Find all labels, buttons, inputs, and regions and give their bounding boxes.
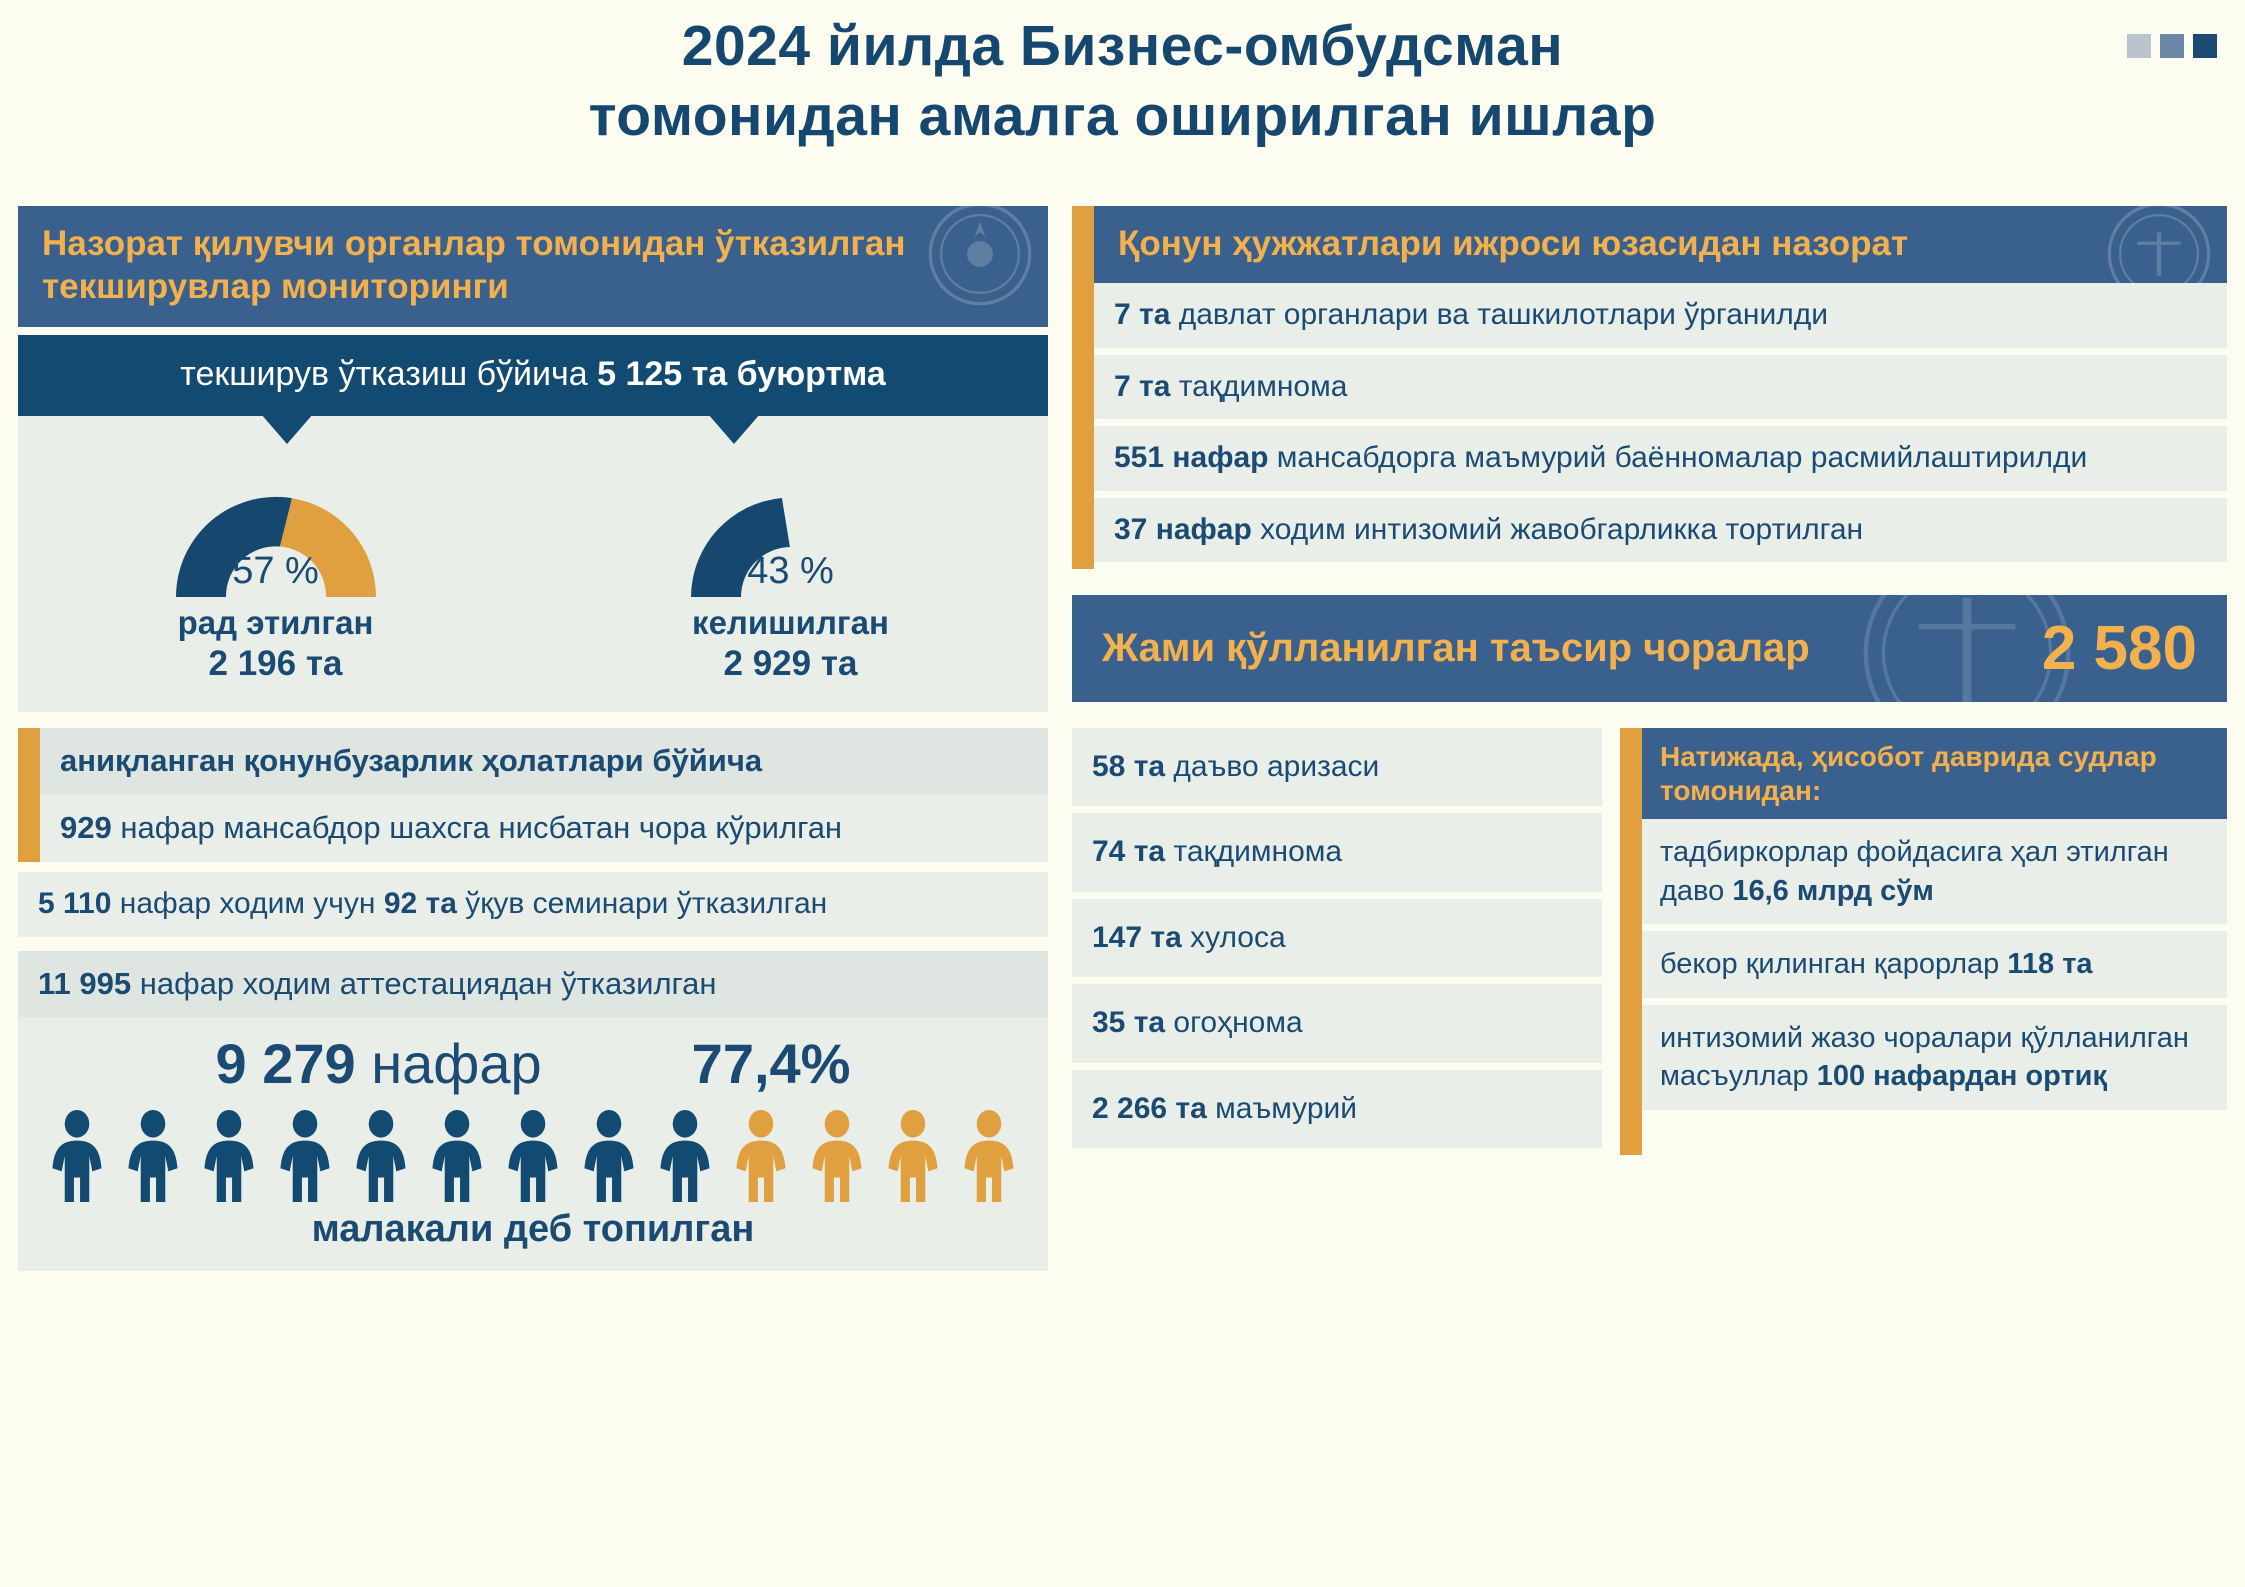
right-items-accent-bar <box>1072 283 1094 569</box>
right-items-list: 7 та давлат органлари ва ташкилотлари ўр… <box>1094 283 2227 569</box>
right-panel-heading: Қонун ҳужжатлари ижроси юзасидан назорат <box>1094 206 2227 283</box>
court-item-value: 16,6 млрд сўм <box>1732 875 1934 907</box>
measure-number: 147 та <box>1092 921 1182 954</box>
banner-pointer-right <box>708 414 760 444</box>
total-measures-banner: Жами қўлланилган таъсир чоралар 2 580 <box>1072 595 2227 702</box>
person-icon <box>502 1110 564 1202</box>
right-item-row: 37 нафар ходим интизомий жавобгарликка т… <box>1094 498 2227 562</box>
left-panel-heading: Назорат қилувчи органлар томонидан ўтказ… <box>18 206 1048 327</box>
pictogram-value: 9 279 нафар <box>216 1031 542 1096</box>
right-item-row: 551 нафар мансабдорга маъмурий баённомал… <box>1094 426 2227 490</box>
orders-banner: текширув ўтказиш бўйича 5 125 та буюртма <box>18 335 1048 416</box>
person-icon <box>730 1110 792 1202</box>
person-icon <box>806 1110 868 1202</box>
donut-rejected-value: 2 196 та <box>96 642 456 686</box>
violations-heading: аниқланган қонунбузарлик ҳолатлари бўйич… <box>40 728 1048 794</box>
donut-agreed-value: 2 929 та <box>611 642 971 686</box>
donut-rejected: 57 % рад этилган 2 196 та <box>96 462 456 686</box>
right-heading-accent-bar <box>1072 206 1094 283</box>
measure-text: тақдимнома <box>1165 835 1342 868</box>
measure-number: 58 та <box>1092 750 1165 783</box>
seminar-number-employees: 5 110 <box>38 887 111 920</box>
seminar-mid-text: нафар ходим учун <box>111 887 383 920</box>
right-column: Қонун ҳужжатлари ижроси юзасидан назорат… <box>1072 206 2227 1155</box>
pictogram-people-icons <box>18 1110 1048 1202</box>
measures-list: 58 та даъво аризаси74 та тақдимнома147 т… <box>1072 728 1602 1155</box>
right-item-text: ходим интизомий жавобгарликка тортилган <box>1252 513 1863 546</box>
court-items-list: тадбиркорлар фойдасига ҳал этилган даво … <box>1642 819 2227 1110</box>
right-panel-heading-wrap: Қонун ҳужжатлари ижроси юзасидан назорат <box>1072 206 2227 283</box>
person-icon <box>882 1110 944 1202</box>
left-panel-heading-text: Назорат қилувчи органлар томонидан ўтказ… <box>42 224 906 306</box>
court-heading: Натижада, ҳисобот даврида судлар томонид… <box>1642 728 2227 819</box>
title-line-2: томонидан амалга оширилган ишлар <box>0 82 2245 152</box>
attestation-number: 11 995 <box>38 966 131 1001</box>
person-icon <box>122 1110 184 1202</box>
measure-row: 2 266 та маъмурий <box>1072 1070 1602 1148</box>
right-item-number: 37 нафар <box>1114 513 1252 546</box>
banner-pointer-left <box>261 414 313 444</box>
violations-row: 929 нафар мансабдор шахсга нисбатан чора… <box>40 794 1048 862</box>
violations-block: аниқланган қонунбузарлик ҳолатлари бўйич… <box>18 728 1048 862</box>
measure-row: 147 та хулоса <box>1072 899 1602 977</box>
total-measures-value: 2 580 <box>2042 613 2197 684</box>
seminar-tail-text: ўқув семинари ўтказилган <box>457 887 827 920</box>
donut-agreed-label: келишилган <box>611 603 971 643</box>
right-item-row: 7 та давлат органлари ва ташкилотлари ўр… <box>1094 283 2227 347</box>
attestation-heading: 11 995 нафар ходим аттестациядан ўтказил… <box>18 951 1048 1017</box>
measure-text: маъмурий <box>1207 1092 1357 1125</box>
person-icon <box>350 1110 412 1202</box>
decor-square-light <box>2127 34 2151 58</box>
corner-squares-decor <box>2127 34 2217 58</box>
donut-agreed: 43 % келишилган 2 929 та <box>611 462 971 686</box>
right-item-text: мансабдорга маъмурий баённомалар расмийл… <box>1268 441 2087 474</box>
right-items-wrap: 7 та давлат органлари ва ташкилотлари ўр… <box>1072 283 2227 569</box>
orders-banner-prefix: текширув ўтказиш бўйича <box>180 355 597 393</box>
left-column: Назорат қилувчи органлар томонидан ўтказ… <box>18 206 1048 1271</box>
right-panel-heading-text: Қонун ҳужжатлари ижроси юзасидан назорат <box>1118 224 1908 263</box>
person-icon <box>198 1110 260 1202</box>
donut-rejected-percent: 57 % <box>151 550 401 593</box>
right-item-text: тақдимнома <box>1170 370 1347 403</box>
pictogram-unit: нафар <box>356 1032 542 1095</box>
court-item-row: тадбиркорлар фойдасига ҳал этилган даво … <box>1642 819 2227 924</box>
measure-number: 74 та <box>1092 835 1165 868</box>
court-results-block: Натижада, ҳисобот даврида судлар томонид… <box>1620 728 2227 1155</box>
person-icon <box>958 1110 1020 1202</box>
court-item-value: 118 та <box>2007 948 2092 980</box>
court-item-row: интизомий жазо чоралари қўлланилган масъ… <box>1642 1005 2227 1110</box>
violations-text: нафар мансабдор шахсга нисбатан чора кўр… <box>112 810 842 845</box>
donut-chart-area: 57 % рад этилган 2 196 та 43 % келишилга… <box>18 416 1048 712</box>
person-icon <box>46 1110 108 1202</box>
measure-number: 2 266 та <box>1092 1092 1207 1125</box>
right-item-text: давлат органлари ва ташкилотлари ўрганил… <box>1170 298 1828 331</box>
attestation-block: 11 995 нафар ходим аттестациядан ўтказил… <box>18 951 1048 1271</box>
justice-seal-icon <box>2105 206 2213 283</box>
right-item-number: 7 та <box>1114 370 1170 403</box>
measure-text: хулоса <box>1182 921 1286 954</box>
decor-square-dark <box>2193 34 2217 58</box>
pictogram-number: 9 279 <box>216 1032 356 1095</box>
pictogram-caption: малакали деб топилган <box>18 1208 1048 1251</box>
measure-text: даъво аризаси <box>1165 750 1379 783</box>
violations-accent-bar <box>18 728 40 862</box>
court-item-row: бекор қилинган қарорлар 118 та <box>1642 931 2227 998</box>
donut-rejected-graphic: 57 % <box>151 462 401 597</box>
measure-row: 58 та даъво аризаси <box>1072 728 1602 806</box>
person-icon <box>654 1110 716 1202</box>
person-icon <box>426 1110 488 1202</box>
donut-rejected-label: рад этилган <box>96 603 456 643</box>
total-measures-label: Жами қўлланилган таъсир чоралар <box>1102 626 1810 671</box>
court-item-value: 100 нафардан ортиқ <box>1817 1060 2107 1092</box>
seminar-number-sessions: 92 та <box>384 887 457 920</box>
person-icon <box>578 1110 640 1202</box>
donut-agreed-graphic: 43 % <box>666 462 916 597</box>
measure-text: огоҳнома <box>1165 1006 1303 1039</box>
pictogram-body: 9 279 нафар 77,4% малакали деб топилган <box>18 1017 1048 1271</box>
measure-row: 35 та огоҳнома <box>1072 984 1602 1062</box>
decor-square-mid <box>2160 34 2184 58</box>
donut-agreed-percent: 43 % <box>666 550 916 593</box>
right-item-number: 7 та <box>1114 298 1170 331</box>
court-accent-bar <box>1620 728 1642 1155</box>
right-item-number: 551 нафар <box>1114 441 1268 474</box>
attestation-text: нафар ходим аттестациядан ўтказилган <box>131 966 716 1001</box>
violations-number: 929 <box>60 810 112 845</box>
bottom-two-columns: 58 та даъво аризаси74 та тақдимнома147 т… <box>1072 728 2227 1155</box>
court-item-text: бекор қилинган қарорлар <box>1660 948 2007 980</box>
seminar-row: 5 110 нафар ходим учун 92 та ўқув семина… <box>18 872 1048 936</box>
state-seal-icon <box>926 206 1034 308</box>
measure-row: 74 та тақдимнома <box>1072 813 1602 891</box>
page-title: 2024 йилда Бизнес-омбудсман томонидан ам… <box>0 12 2245 151</box>
title-line-1: 2024 йилда Бизнес-омбудсман <box>0 12 2245 82</box>
measure-number: 35 та <box>1092 1006 1165 1039</box>
person-icon <box>274 1110 336 1202</box>
right-item-row: 7 та тақдимнома <box>1094 355 2227 419</box>
pictogram-percent: 77,4% <box>692 1031 851 1096</box>
orders-banner-value: 5 125 та буюртма <box>597 355 886 393</box>
